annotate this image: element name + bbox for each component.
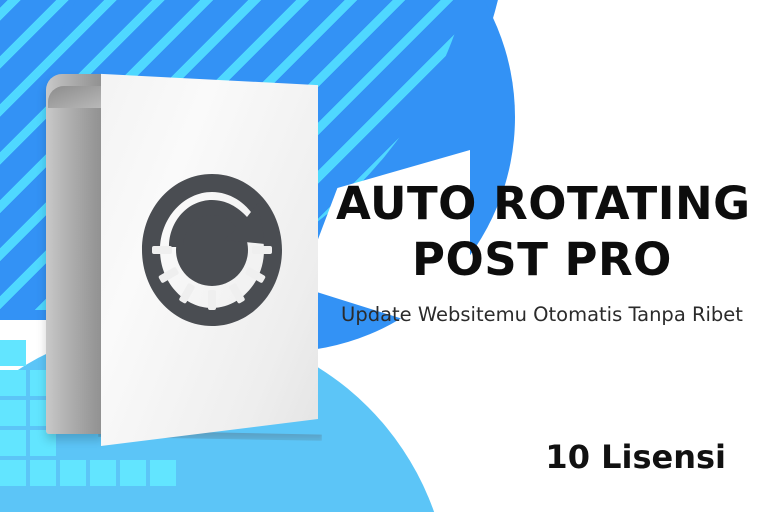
grid-square: [0, 460, 26, 486]
grid-square: [0, 430, 26, 456]
grid-square: [60, 460, 86, 486]
product-subtitle: Update Websitemu Otomatis Tanpa Ribet: [336, 302, 748, 328]
grid-square: [30, 460, 56, 486]
grid-square: [120, 460, 146, 486]
box-spine: [46, 74, 104, 434]
grid-square: [0, 400, 26, 426]
title-block: AUTO ROTATING POST PRO Update Websitemu …: [336, 176, 748, 328]
product-banner: AUTO ROTATING POST PRO Update Websitemu …: [0, 0, 768, 512]
grid-square: [0, 340, 26, 366]
product-title-line-1: AUTO ROTATING: [336, 176, 748, 232]
grid-square: [90, 460, 116, 486]
product-title-line-2: POST PRO: [336, 232, 748, 288]
grid-square: [150, 460, 176, 486]
auto-rotate-icon: [138, 172, 286, 328]
grid-square: [0, 370, 26, 396]
license-count-badge: 10 Lisensi: [336, 438, 748, 476]
box-spine-top: [48, 86, 104, 108]
